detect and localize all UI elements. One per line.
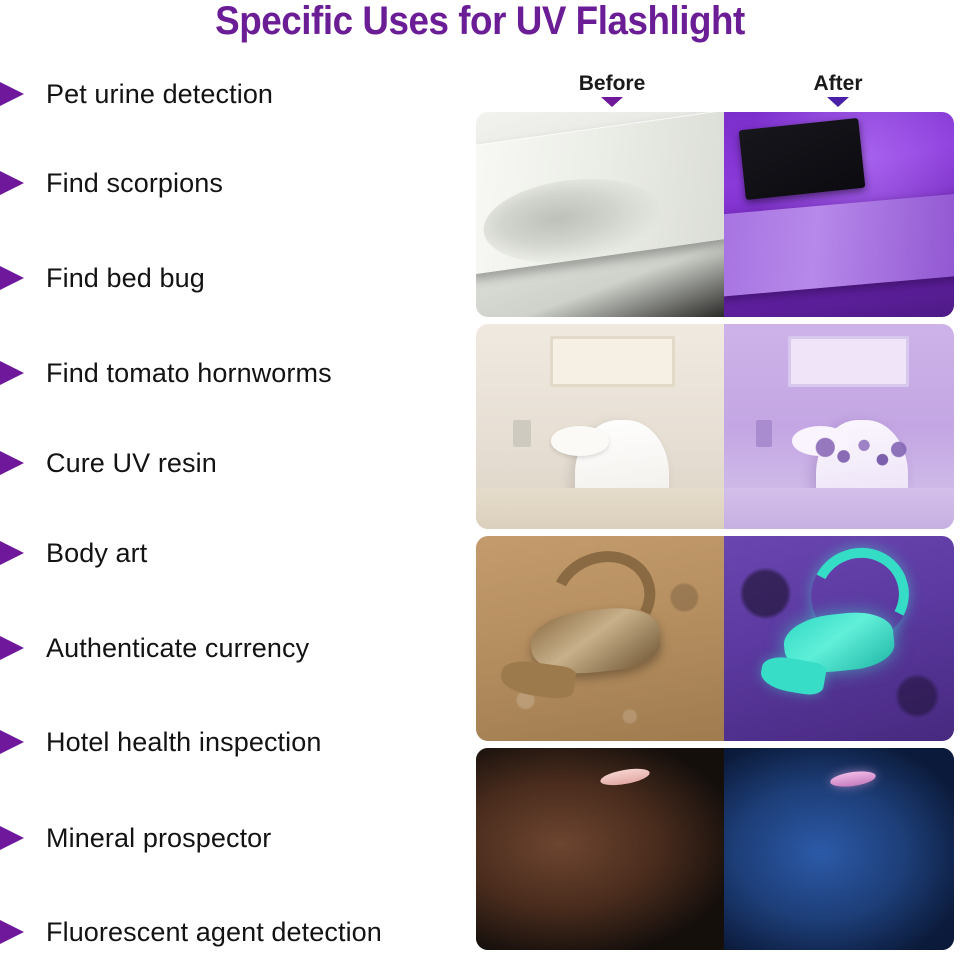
comparison-row-scorpion bbox=[476, 536, 954, 741]
use-label: Mineral prospector bbox=[46, 823, 271, 854]
before-column-header: Before bbox=[552, 72, 672, 107]
list-item: Mineral prospector bbox=[0, 814, 470, 862]
photo-scorpion-after bbox=[724, 536, 954, 741]
wall-fixture bbox=[756, 420, 772, 447]
list-item: Pet urine detection bbox=[0, 70, 470, 118]
list-item: Find bed bug bbox=[0, 254, 470, 302]
list-item: Body art bbox=[0, 529, 470, 577]
down-triangle-icon bbox=[601, 97, 623, 107]
list-item: Find tomato hornworms bbox=[0, 349, 470, 397]
list-item: Authenticate currency bbox=[0, 624, 470, 672]
bullet-arrow-icon bbox=[0, 79, 32, 109]
uv-stain-spots bbox=[811, 431, 912, 472]
bullet-arrow-icon bbox=[0, 263, 32, 293]
use-label: Find bed bug bbox=[46, 263, 205, 294]
comparison-photo-grid bbox=[476, 112, 954, 950]
uses-list: Pet urine detection Find scorpions Find … bbox=[0, 60, 470, 953]
down-triangle-icon bbox=[827, 97, 849, 107]
wall-niche bbox=[550, 336, 675, 387]
use-label: Body art bbox=[46, 538, 147, 569]
photo-scorpion-before bbox=[476, 536, 724, 741]
list-item: Fluorescent agent detection bbox=[0, 908, 470, 956]
use-label: Authenticate currency bbox=[46, 633, 309, 664]
bullet-arrow-icon bbox=[0, 917, 32, 947]
before-label: Before bbox=[552, 72, 672, 96]
comparison-row-bodyart bbox=[476, 748, 954, 950]
bullet-arrow-icon bbox=[0, 727, 32, 757]
photo-currency-after bbox=[724, 112, 954, 317]
after-label: After bbox=[778, 72, 898, 96]
use-label: Find tomato hornworms bbox=[46, 358, 332, 389]
body-paint-swirls bbox=[486, 784, 679, 946]
use-label: Pet urine detection bbox=[46, 79, 273, 110]
photo-bathroom-after bbox=[724, 324, 954, 529]
bullet-arrow-icon bbox=[0, 823, 32, 853]
photo-currency-before bbox=[476, 112, 724, 317]
floor-band bbox=[724, 488, 954, 529]
bullet-arrow-icon bbox=[0, 448, 32, 478]
after-column-header: After bbox=[778, 72, 898, 107]
bullet-arrow-icon bbox=[0, 358, 32, 388]
list-item: Find scorpions bbox=[0, 159, 470, 207]
body-paint-swirls bbox=[738, 784, 927, 946]
wall-niche bbox=[788, 336, 909, 387]
list-item: Hotel health inspection bbox=[0, 718, 470, 766]
use-label: Fluorescent agent detection bbox=[46, 917, 382, 948]
use-label: Find scorpions bbox=[46, 168, 223, 199]
bullet-arrow-icon bbox=[0, 538, 32, 568]
photo-bodyart-after bbox=[724, 748, 954, 950]
photo-bathroom-before bbox=[476, 324, 724, 529]
page-title: Specific Uses for UV Flashlight bbox=[38, 0, 921, 46]
photo-bodyart-before bbox=[476, 748, 724, 950]
bullet-arrow-icon bbox=[0, 168, 32, 198]
comparison-row-currency bbox=[476, 112, 954, 317]
use-label: Hotel health inspection bbox=[46, 727, 321, 758]
comparison-row-bathroom bbox=[476, 324, 954, 529]
floor-band bbox=[476, 488, 724, 529]
use-label: Cure UV resin bbox=[46, 448, 217, 479]
wall-fixture bbox=[513, 420, 530, 447]
bullet-arrow-icon bbox=[0, 633, 32, 663]
list-item: Cure UV resin bbox=[0, 439, 470, 487]
